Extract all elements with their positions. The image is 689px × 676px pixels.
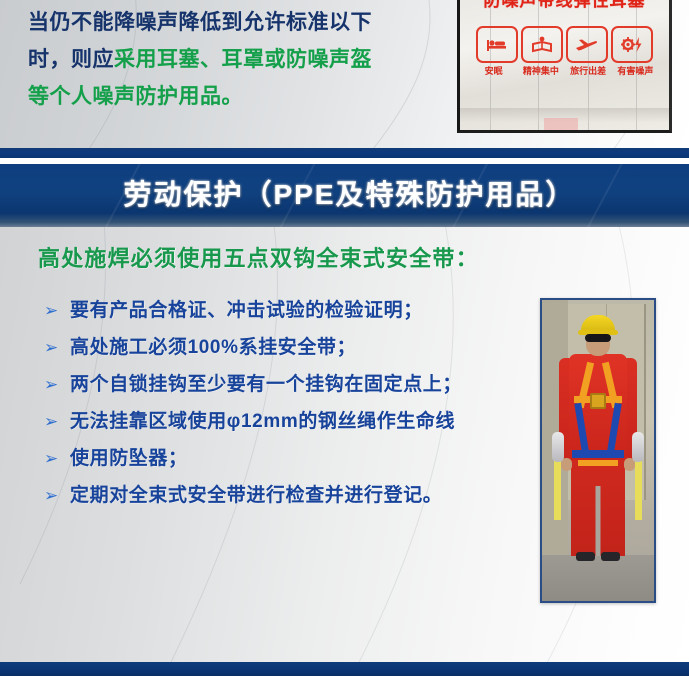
- top-panel: 当仍不能降噪声降低到允许标准以下 时，则应采用耳塞、耳罩或防噪声盔 等个人噪声防…: [0, 0, 689, 148]
- package-label-2: 旅行出差: [565, 64, 612, 77]
- bed-sleep-icon: [476, 26, 518, 63]
- subsection-heading: 高处施焊必须使用五点双钩全束式安全带：: [38, 241, 479, 273]
- arrow-bullet-icon: ➢: [44, 484, 70, 508]
- top-text-line-2: 时，则应采用耳塞、耳罩或防噪声盔: [28, 41, 448, 78]
- bottom-accent-bar: [0, 662, 689, 676]
- arrow-bullet-icon: ➢: [44, 336, 70, 360]
- top-text-line-2-highlight: 采用耳塞、耳罩或防噪声盔: [114, 48, 372, 71]
- top-text-line-3-highlight: 等个人噪声防护用品。: [28, 78, 448, 115]
- package-label-1: 精神集中: [517, 64, 564, 77]
- package-icon-labels: 安眠 精神集中 旅行出差 有害噪声: [470, 64, 659, 77]
- arrow-bullet-icon: ➢: [44, 373, 70, 397]
- package-title-text: 防噪声带线弹性耳塞: [460, 0, 669, 11]
- airplane-travel-icon: [566, 26, 608, 63]
- section-separator-bar: [0, 148, 689, 158]
- earplug-package-photo: 防噪声带线弹性耳塞 安眠 精神集中 旅行出差 有害噪声: [457, 0, 672, 133]
- list-item-label: 要有产品合格证、冲击试验的检验证明；: [70, 299, 423, 323]
- top-text-line-1: 当仍不能降噪声降低到允许标准以下: [28, 4, 448, 41]
- arrow-bullet-icon: ➢: [44, 299, 70, 323]
- list-item-label: 两个自锁挂钩至少要有一个挂钩在固定点上；: [70, 373, 462, 397]
- package-label-3: 有害噪声: [612, 64, 659, 77]
- package-icon-row: [476, 26, 653, 63]
- noise-hazard-icon: [611, 26, 653, 63]
- book-reading-icon: [521, 26, 563, 63]
- package-label-0: 安眠: [470, 64, 517, 77]
- section-title-text: 劳动保护（PPE及特殊防护用品）: [0, 173, 689, 213]
- top-text-line-2-prefix: 时，则应: [28, 48, 114, 71]
- presentation-slide: 当仍不能降噪声降低到允许标准以下 时，则应采用耳塞、耳罩或防噪声盔 等个人噪声防…: [0, 0, 689, 676]
- section-title-banner: 劳动保护（PPE及特殊防护用品）: [0, 164, 689, 227]
- list-item-label: 无法挂靠区域使用φ12mm的钢丝绳作生命线: [70, 410, 455, 434]
- noise-protection-paragraph: 当仍不能降噪声降低到允许标准以下 时，则应采用耳塞、耳罩或防噪声盔 等个人噪声防…: [28, 4, 448, 115]
- list-item-label: 定期对全束式安全带进行检查并进行登记。: [70, 484, 442, 508]
- list-item-label: 高处施工必须100%系挂安全带；: [70, 336, 356, 360]
- worker-safety-harness-photo: [540, 298, 656, 603]
- main-panel: 劳动保护（PPE及特殊防护用品） 高处施焊必须使用五点双钩全束式安全带： ➢ 要…: [0, 164, 689, 676]
- list-item-label: 使用防坠器；: [70, 447, 188, 471]
- arrow-bullet-icon: ➢: [44, 410, 70, 434]
- arrow-bullet-icon: ➢: [44, 447, 70, 471]
